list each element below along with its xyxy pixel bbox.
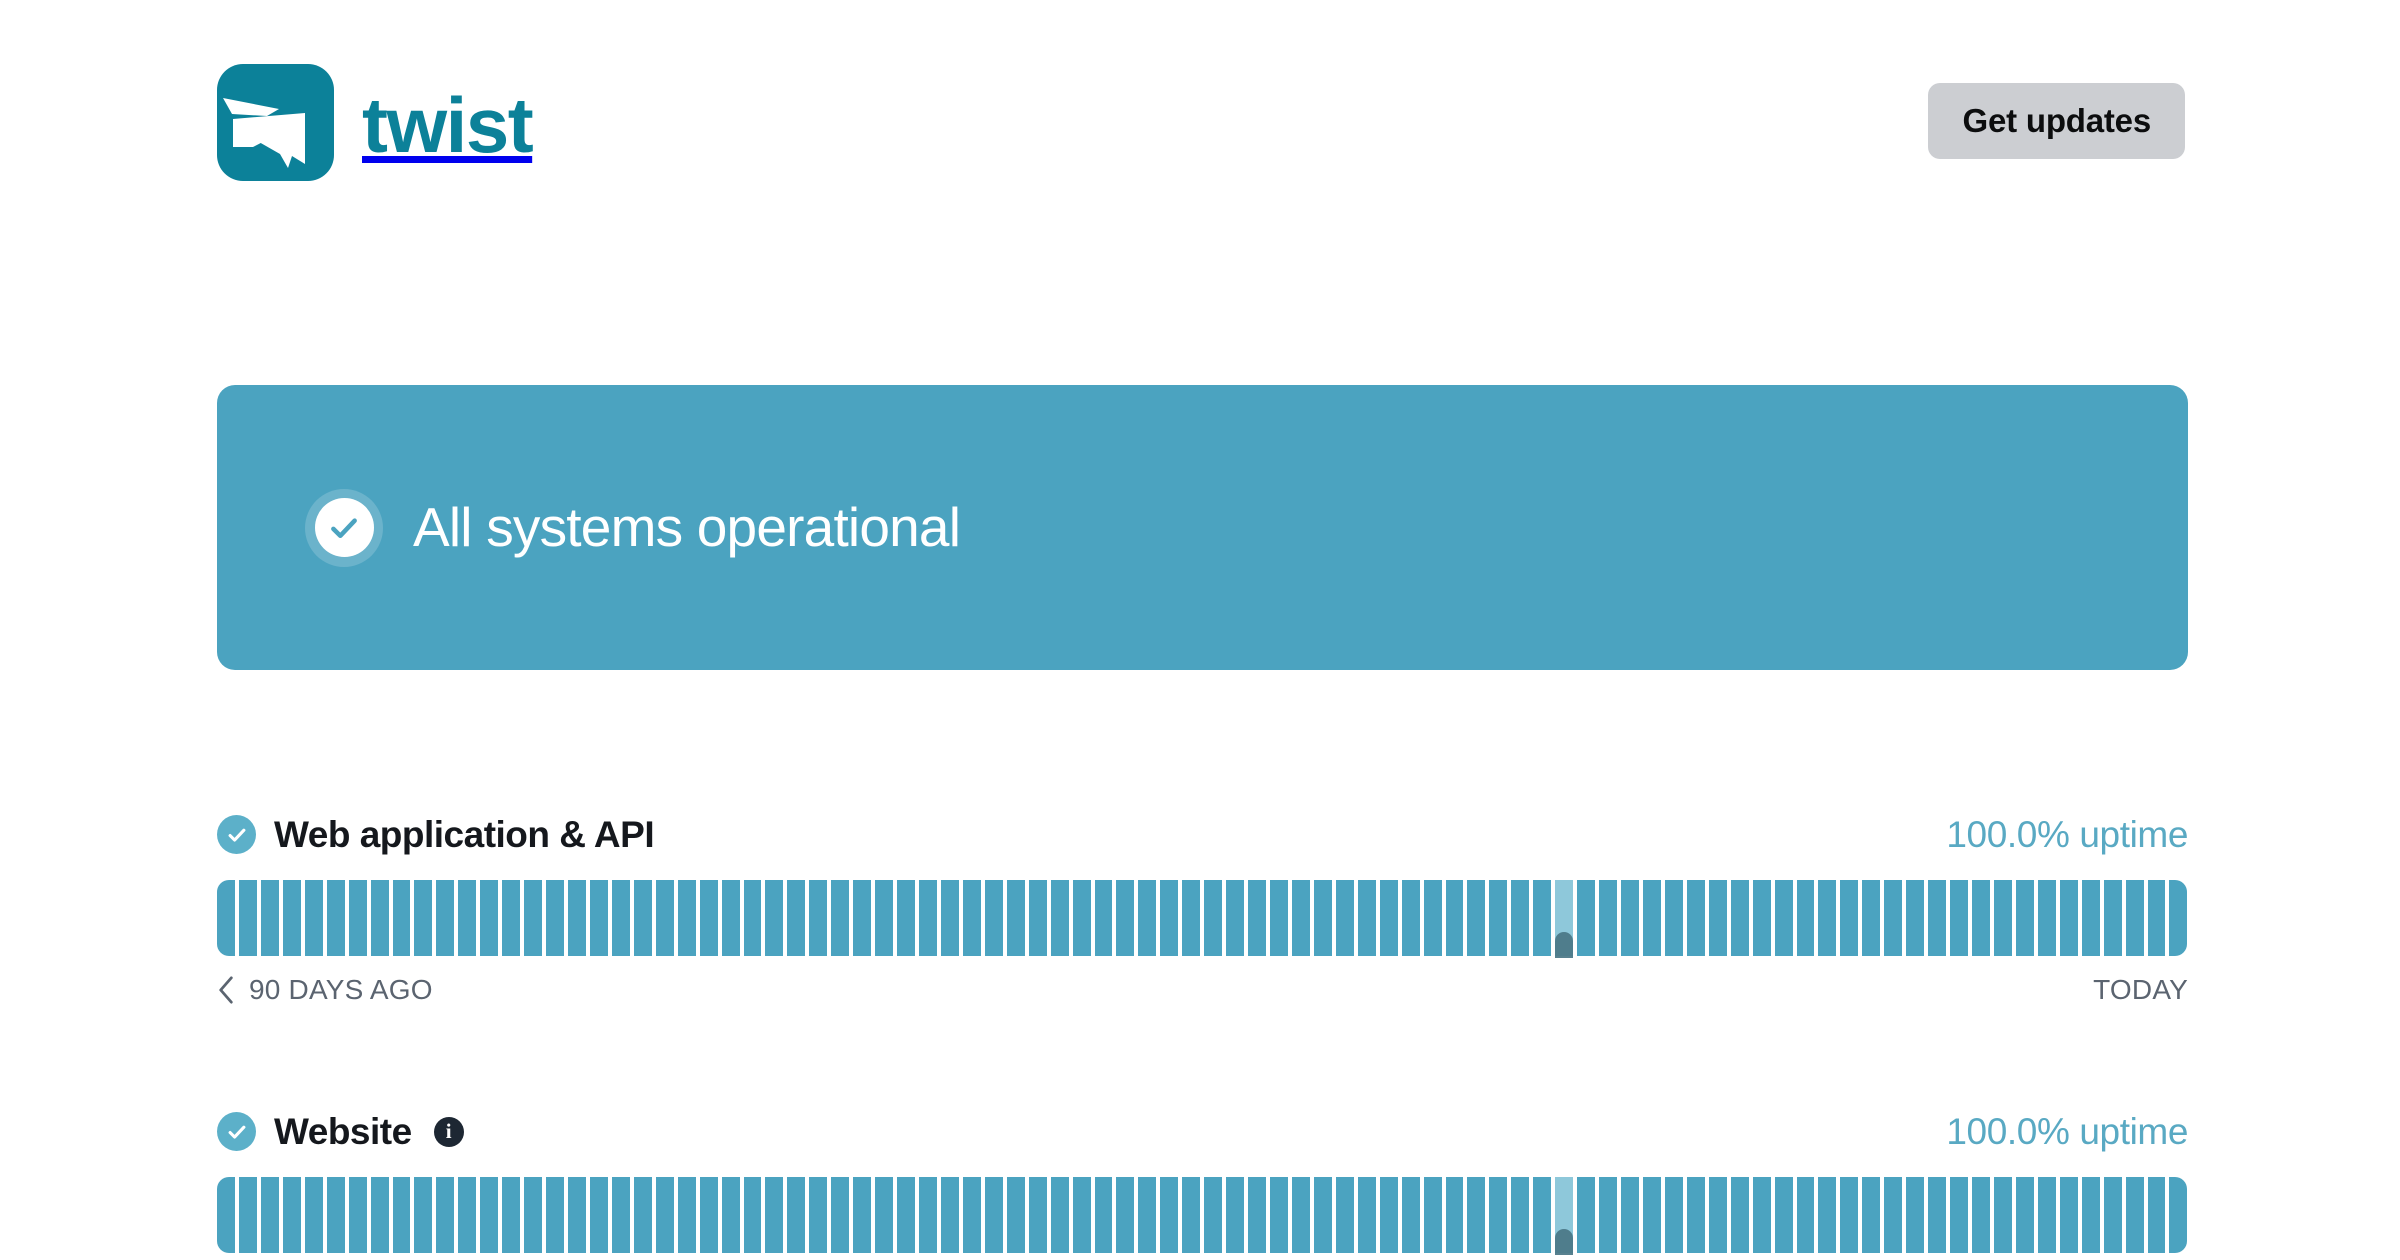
uptime-tick[interactable] <box>1840 880 1858 956</box>
uptime-tick[interactable] <box>261 880 279 956</box>
uptime-tick[interactable] <box>2082 880 2100 956</box>
uptime-tick[interactable] <box>1446 880 1464 956</box>
uptime-tick[interactable] <box>436 880 454 956</box>
uptime-tick[interactable] <box>744 1177 762 1253</box>
uptime-tick-tooltip-nub <box>1555 1229 1573 1255</box>
uptime-tick[interactable] <box>1599 1177 1617 1253</box>
uptime-tick[interactable] <box>1643 880 1661 956</box>
uptime-tick[interactable] <box>1314 1177 1332 1253</box>
uptime-tick[interactable] <box>1204 1177 1222 1253</box>
uptime-tick[interactable] <box>678 1177 696 1253</box>
uptime-tick[interactable] <box>2060 1177 2078 1253</box>
uptime-tick[interactable] <box>941 1177 959 1253</box>
uptime-tick[interactable] <box>1270 880 1288 956</box>
uptime-tick[interactable] <box>612 1177 630 1253</box>
uptime-tick[interactable] <box>1489 1177 1507 1253</box>
uptime-tick[interactable] <box>217 880 235 956</box>
component-name-group: Web application & API <box>217 815 654 854</box>
uptime-tick[interactable] <box>1073 880 1091 956</box>
uptime-tick[interactable] <box>1818 1177 1836 1253</box>
component-header: Web application & API 100.0% uptime <box>217 815 2188 854</box>
uptime-tick[interactable] <box>1292 1177 1310 1253</box>
uptime-tick[interactable] <box>1555 1177 1573 1253</box>
uptime-tick[interactable] <box>502 880 520 956</box>
uptime-tick[interactable] <box>1533 1177 1551 1253</box>
uptime-tick[interactable] <box>1336 880 1354 956</box>
uptime-tick[interactable] <box>393 1177 411 1253</box>
uptime-tick[interactable] <box>1665 880 1683 956</box>
uptime-tick[interactable] <box>809 880 827 956</box>
uptime-tick[interactable] <box>239 880 257 956</box>
uptime-tick[interactable] <box>458 1177 476 1253</box>
uptime-tick[interactable] <box>897 880 915 956</box>
uptime-tick[interactable] <box>1095 1177 1113 1253</box>
uptime-tick[interactable] <box>1402 1177 1420 1253</box>
uptime-tick[interactable] <box>349 1177 367 1253</box>
uptime-tick[interactable] <box>1709 1177 1727 1253</box>
uptime-tick[interactable] <box>568 1177 586 1253</box>
uptime-tick[interactable] <box>809 1177 827 1253</box>
uptime-tick[interactable] <box>2126 880 2144 956</box>
uptime-tick[interactable] <box>1424 880 1442 956</box>
uptime-tick[interactable] <box>1007 1177 1025 1253</box>
uptime-tick[interactable] <box>2104 880 2122 956</box>
uptime-tick[interactable] <box>1731 880 1749 956</box>
uptime-tick[interactable] <box>875 880 893 956</box>
component-row: Website i 100.0% uptime 90 DAYS AGO <box>217 1112 2188 1260</box>
uptime-tick[interactable] <box>2016 880 2034 956</box>
uptime-tick[interactable] <box>1665 1177 1683 1253</box>
uptime-tick[interactable] <box>656 880 674 956</box>
uptime-tick[interactable] <box>1862 1177 1880 1253</box>
uptime-tick[interactable] <box>1709 880 1727 956</box>
uptime-tick[interactable] <box>897 1177 915 1253</box>
uptime-tick[interactable] <box>963 1177 981 1253</box>
uptime-tick[interactable] <box>1051 880 1069 956</box>
uptime-tick[interactable] <box>853 1177 871 1253</box>
uptime-tick[interactable] <box>1226 1177 1244 1253</box>
uptime-tick[interactable] <box>1226 880 1244 956</box>
uptime-tick[interactable] <box>1555 880 1573 956</box>
uptime-tick[interactable] <box>327 1177 345 1253</box>
component-name-group: Website i <box>217 1112 464 1151</box>
uptime-tick[interactable] <box>524 880 542 956</box>
uptime-tick[interactable] <box>1314 880 1332 956</box>
uptime-tick[interactable] <box>700 880 718 956</box>
uptime-tick[interactable] <box>1248 1177 1266 1253</box>
uptime-tick[interactable] <box>1621 880 1639 956</box>
component-row: Web application & API 100.0% uptime 90 D… <box>217 815 2188 1004</box>
uptime-tick-tooltip-nub <box>1555 932 1573 958</box>
uptime-tick[interactable] <box>502 1177 520 1253</box>
uptime-tick[interactable] <box>480 880 498 956</box>
uptime-tick[interactable] <box>941 880 959 956</box>
uptime-tick[interactable] <box>1950 880 1968 956</box>
uptime-tick[interactable] <box>1643 1177 1661 1253</box>
uptime-tick[interactable] <box>612 880 630 956</box>
page-content: twist Get updates All systems operationa… <box>217 0 2188 1260</box>
uptime-tick[interactable] <box>546 1177 564 1253</box>
uptime-tick[interactable] <box>1753 1177 1771 1253</box>
component-header: Website i 100.0% uptime <box>217 1112 2188 1151</box>
uptime-tick[interactable] <box>1336 1177 1354 1253</box>
chevron-left-icon[interactable] <box>217 976 235 1004</box>
uptime-tick[interactable] <box>1906 880 1924 956</box>
uptime-tick[interactable] <box>1818 880 1836 956</box>
uptime-tick[interactable] <box>1511 1177 1529 1253</box>
uptime-tick[interactable] <box>2016 1177 2034 1253</box>
component-label: Web application & API <box>274 816 654 853</box>
legend-start-label: 90 DAYS AGO <box>249 976 433 1004</box>
uptime-tick[interactable] <box>722 880 740 956</box>
uptime-tick[interactable] <box>1884 1177 1902 1253</box>
uptime-tick[interactable] <box>1972 1177 1990 1253</box>
uptime-tick[interactable] <box>568 880 586 956</box>
uptime-tick[interactable] <box>2126 1177 2144 1253</box>
uptime-tick[interactable] <box>1138 1177 1156 1253</box>
uptime-tick[interactable] <box>1073 1177 1091 1253</box>
uptime-tick[interactable] <box>1095 880 1113 956</box>
uptime-tick[interactable] <box>787 1177 805 1253</box>
uptime-tick[interactable] <box>2169 880 2187 956</box>
uptime-tick[interactable] <box>1380 1177 1398 1253</box>
uptime-tick[interactable] <box>371 880 389 956</box>
uptime-tick[interactable] <box>634 1177 652 1253</box>
uptime-tick[interactable] <box>305 1177 323 1253</box>
check-circle-icon <box>217 815 256 854</box>
uptime-tick[interactable] <box>2038 1177 2056 1253</box>
overall-status-banner: All systems operational <box>217 385 2188 670</box>
uptime-tick[interactable] <box>985 1177 1003 1253</box>
uptime-tick[interactable] <box>283 880 301 956</box>
uptime-tick[interactable] <box>1797 880 1815 956</box>
uptime-tick[interactable] <box>349 880 367 956</box>
uptime-tick[interactable] <box>1994 1177 2012 1253</box>
uptime-tick[interactable] <box>1446 1177 1464 1253</box>
uptime-bar-chart[interactable] <box>217 880 2188 956</box>
uptime-tick[interactable] <box>261 1177 279 1253</box>
uptime-tick[interactable] <box>2082 1177 2100 1253</box>
uptime-tick[interactable] <box>722 1177 740 1253</box>
uptime-tick[interactable] <box>963 880 981 956</box>
uptime-tick[interactable] <box>1687 1177 1705 1253</box>
uptime-tick[interactable] <box>1928 1177 1946 1253</box>
uptime-tick[interactable] <box>1884 880 1902 956</box>
uptime-tick[interactable] <box>1577 1177 1595 1253</box>
uptime-tick[interactable] <box>305 880 323 956</box>
uptime-tick[interactable] <box>393 880 411 956</box>
uptime-tick[interactable] <box>787 880 805 956</box>
uptime-tick[interactable] <box>985 880 1003 956</box>
uptime-tick[interactable] <box>1182 1177 1200 1253</box>
uptime-tick[interactable] <box>1467 1177 1485 1253</box>
uptime-tick[interactable] <box>1840 1177 1858 1253</box>
uptime-tick[interactable] <box>590 1177 608 1253</box>
uptime-bar-legend: 90 DAYS AGO TODAY <box>217 976 2188 1004</box>
uptime-percentage: 100.0% uptime <box>1946 1113 2188 1150</box>
uptime-tick[interactable] <box>765 1177 783 1253</box>
component-list: Web application & API 100.0% uptime 90 D… <box>217 815 2188 1260</box>
uptime-tick[interactable] <box>414 1177 432 1253</box>
uptime-tick[interactable] <box>1424 1177 1442 1253</box>
uptime-tick[interactable] <box>765 880 783 956</box>
uptime-tick[interactable] <box>1577 880 1595 956</box>
uptime-tick[interactable] <box>831 880 849 956</box>
get-updates-button[interactable]: Get updates <box>1928 83 2185 159</box>
status-page: twist Get updates All systems operationa… <box>0 0 2400 1260</box>
uptime-tick[interactable] <box>1994 880 2012 956</box>
uptime-tick[interactable] <box>590 880 608 956</box>
uptime-tick[interactable] <box>1182 880 1200 956</box>
uptime-tick[interactable] <box>1489 880 1507 956</box>
uptime-tick[interactable] <box>919 880 937 956</box>
uptime-tick[interactable] <box>1051 1177 1069 1253</box>
uptime-tick[interactable] <box>1862 880 1880 956</box>
uptime-tick[interactable] <box>436 1177 454 1253</box>
uptime-tick[interactable] <box>1248 880 1266 956</box>
uptime-tick[interactable] <box>1138 880 1156 956</box>
uptime-tick[interactable] <box>480 1177 498 1253</box>
uptime-tick[interactable] <box>524 1177 542 1253</box>
uptime-tick[interactable] <box>283 1177 301 1253</box>
uptime-tick[interactable] <box>1160 1177 1178 1253</box>
uptime-tick[interactable] <box>1621 1177 1639 1253</box>
uptime-tick[interactable] <box>1358 1177 1376 1253</box>
uptime-tick[interactable] <box>1533 880 1551 956</box>
uptime-tick[interactable] <box>700 1177 718 1253</box>
uptime-tick[interactable] <box>2104 1177 2122 1253</box>
uptime-tick[interactable] <box>371 1177 389 1253</box>
uptime-tick[interactable] <box>1029 1177 1047 1253</box>
uptime-percentage: 100.0% uptime <box>1946 816 2188 853</box>
uptime-tick[interactable] <box>546 880 564 956</box>
uptime-tick[interactable] <box>2038 880 2056 956</box>
uptime-tick[interactable] <box>2060 880 2078 956</box>
uptime-tick[interactable] <box>1797 1177 1815 1253</box>
info-icon[interactable]: i <box>434 1117 464 1147</box>
uptime-tick[interactable] <box>327 880 345 956</box>
uptime-tick[interactable] <box>1511 880 1529 956</box>
twist-logo-icon <box>217 64 334 181</box>
uptime-tick[interactable] <box>414 880 432 956</box>
uptime-tick[interactable] <box>1599 880 1617 956</box>
uptime-tick[interactable] <box>1775 880 1793 956</box>
brand-wordmark: twist <box>362 86 532 164</box>
uptime-tick[interactable] <box>1775 1177 1793 1253</box>
uptime-tick[interactable] <box>1270 1177 1288 1253</box>
uptime-tick[interactable] <box>239 1177 257 1253</box>
page-header: twist Get updates <box>217 0 2188 235</box>
uptime-tick[interactable] <box>1402 880 1420 956</box>
uptime-tick[interactable] <box>853 880 871 956</box>
check-circle-icon <box>315 498 374 557</box>
uptime-tick[interactable] <box>2169 1177 2187 1253</box>
uptime-tick[interactable] <box>1950 1177 1968 1253</box>
uptime-tick[interactable] <box>1467 880 1485 956</box>
status-icon-ring <box>305 489 383 567</box>
uptime-tick[interactable] <box>1292 880 1310 956</box>
uptime-tick[interactable] <box>1928 880 1946 956</box>
brand-logo-link[interactable]: twist <box>217 64 532 181</box>
uptime-tick[interactable] <box>1116 1177 1134 1253</box>
uptime-tick[interactable] <box>919 1177 937 1253</box>
uptime-tick[interactable] <box>1029 880 1047 956</box>
uptime-tick[interactable] <box>2148 1177 2166 1253</box>
uptime-tick[interactable] <box>1687 880 1705 956</box>
uptime-tick[interactable] <box>656 1177 674 1253</box>
uptime-tick[interactable] <box>458 880 476 956</box>
legend-end-label: TODAY <box>2093 976 2188 1004</box>
legend-start-group[interactable]: 90 DAYS AGO <box>217 976 433 1004</box>
uptime-tick[interactable] <box>744 880 762 956</box>
uptime-tick[interactable] <box>1753 880 1771 956</box>
component-label: Website <box>274 1113 412 1150</box>
uptime-tick[interactable] <box>1116 880 1134 956</box>
uptime-tick[interactable] <box>875 1177 893 1253</box>
overall-status-message: All systems operational <box>413 500 960 555</box>
uptime-tick[interactable] <box>1007 880 1025 956</box>
uptime-tick[interactable] <box>1380 880 1398 956</box>
check-circle-icon <box>217 1112 256 1151</box>
uptime-tick[interactable] <box>1160 880 1178 956</box>
uptime-tick[interactable] <box>831 1177 849 1253</box>
uptime-tick[interactable] <box>1731 1177 1749 1253</box>
uptime-tick[interactable] <box>2148 880 2166 956</box>
uptime-tick[interactable] <box>1906 1177 1924 1253</box>
uptime-tick[interactable] <box>1972 880 1990 956</box>
uptime-tick[interactable] <box>1204 880 1222 956</box>
uptime-tick[interactable] <box>634 880 652 956</box>
uptime-tick[interactable] <box>1358 880 1376 956</box>
uptime-bar-chart[interactable] <box>217 1177 2188 1253</box>
uptime-tick[interactable] <box>217 1177 235 1253</box>
uptime-tick[interactable] <box>678 880 696 956</box>
